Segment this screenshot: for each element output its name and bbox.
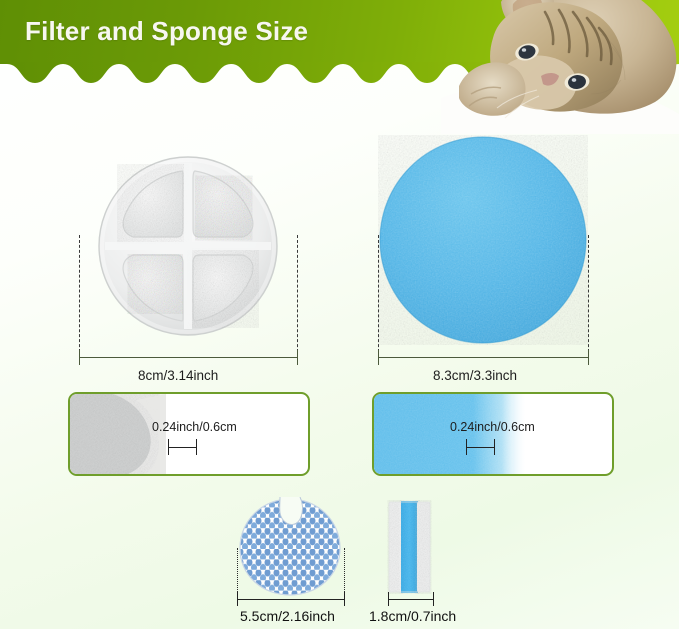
mesh-guide-right	[344, 548, 345, 596]
sponge-width-line	[378, 357, 588, 358]
mesh-width-cap-left	[237, 592, 238, 606]
filter-closeup-photo	[70, 394, 210, 474]
filter-width-label: 8cm/3.14inch	[138, 368, 218, 383]
filter-width-cap-left	[79, 350, 80, 365]
filter-width-line	[79, 357, 297, 358]
filter-guide-left	[79, 235, 80, 357]
filter-width-cap-right	[297, 350, 298, 365]
filter-thickness-cap-right	[196, 439, 197, 455]
mesh-guide-left	[237, 548, 238, 596]
carbon-filter-image	[79, 137, 297, 355]
layered-sponge-image	[387, 500, 433, 594]
mesh-width-label: 5.5cm/2.16inch	[240, 608, 335, 624]
mesh-width-line	[237, 599, 344, 600]
sponge-thickness-cap-left	[466, 439, 467, 455]
page-title: Filter and Sponge Size	[25, 16, 308, 47]
sponge-width-cap-right	[588, 350, 589, 365]
sponge-thickness-bar	[466, 447, 494, 448]
filter-thickness-label: 0.24inch/0.6cm	[152, 420, 237, 434]
filter-thickness-cap-left	[168, 439, 169, 455]
sponge-thickness-inset: 0.24inch/0.6cm	[372, 392, 614, 476]
product-infographic: Filter and Sponge Size	[0, 0, 679, 629]
filter-thickness-bar	[168, 447, 196, 448]
sponge-thickness-label: 0.24inch/0.6cm	[450, 420, 535, 434]
filter-guide-right	[297, 235, 298, 357]
mesh-width-cap-right	[344, 592, 345, 606]
blue-sponge-image	[378, 135, 588, 345]
sponge-thickness-cap-right	[494, 439, 495, 455]
sponge-width-label: 8.3cm/3.3inch	[433, 368, 517, 383]
sponge-guide-left	[378, 235, 379, 357]
sponge-width-cap-left	[378, 350, 379, 365]
filter-thickness-inset: 0.24inch/0.6cm	[68, 392, 310, 476]
block-width-cap-left	[388, 592, 389, 606]
mesh-pad-image	[236, 497, 344, 597]
kitten-photo	[441, 0, 679, 134]
block-width-label: 1.8cm/0.7inch	[369, 608, 456, 624]
sponge-closeup-photo	[374, 394, 534, 474]
block-width-cap-right	[433, 592, 434, 606]
sponge-guide-right	[588, 235, 589, 357]
block-width-line	[388, 599, 433, 600]
